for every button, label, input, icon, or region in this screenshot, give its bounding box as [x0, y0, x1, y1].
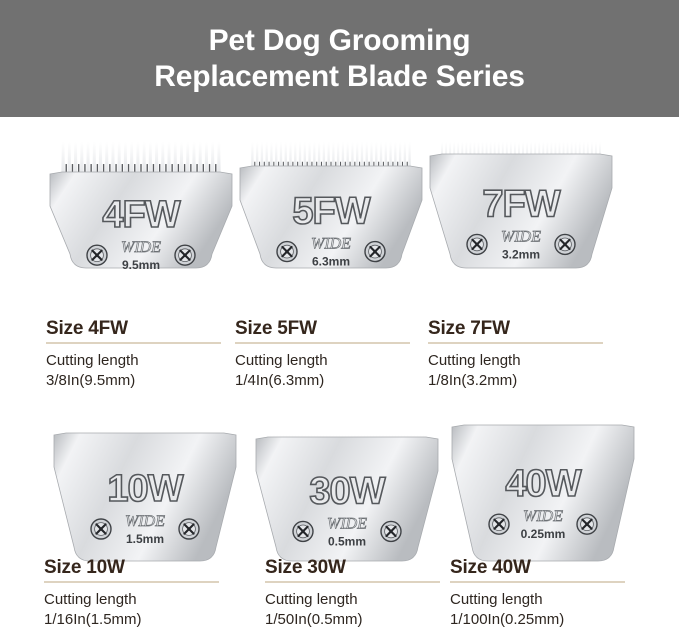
header-banner: Pet Dog Grooming Replacement Blade Serie… [0, 0, 679, 117]
blade-wide-engraving: WIDE [327, 515, 367, 532]
caption-label: Cutting length [265, 590, 453, 610]
caption-value: 1/4In(6.3mm) [235, 371, 423, 391]
caption-label: Cutting length [44, 590, 232, 610]
blade-image-10w: 10WWIDE1.5mm [52, 417, 238, 567]
blade-screw-left [467, 234, 487, 254]
blade-size-engraving: 5FW [292, 191, 370, 233]
caption-title: Size 4FW [46, 318, 234, 340]
blade-length-engraving: 0.25mm [521, 527, 566, 541]
caption-divider [265, 581, 440, 583]
blade-screw-left [293, 521, 313, 541]
caption-title: Size 5FW [235, 318, 423, 340]
caption-title: Size 10W [44, 557, 232, 579]
blade-wide-engraving: WIDE [121, 239, 161, 256]
blade-wide-engraving: WIDE [501, 228, 541, 245]
caption-value: 3/8In(9.5mm) [46, 371, 234, 391]
blade-screw-left [87, 245, 107, 265]
blade-image-40w: 40WWIDE0.25mm [450, 417, 636, 567]
caption-10w: Size 10W Cutting length 1/16In(1.5mm) [44, 557, 232, 630]
caption-4fw: Size 4FW Cutting length 3/8In(9.5mm) [46, 318, 234, 391]
blade-row-1-images: 4FWWIDE9.5mm 5FWWIDE6.3mm 7FWWIDE3.2mm [0, 124, 679, 274]
caption-title: Size 7FW [428, 318, 616, 340]
blade-length-engraving: 1.5mm [126, 532, 164, 546]
caption-5fw: Size 5FW Cutting length 1/4In(6.3mm) [235, 318, 423, 391]
caption-value: 1/50In(0.5mm) [265, 610, 453, 630]
caption-divider [46, 342, 221, 344]
blade-screw-right [175, 245, 195, 265]
blade-length-engraving: 9.5mm [122, 258, 160, 272]
caption-30w: Size 30W Cutting length 1/50In(0.5mm) [265, 557, 453, 630]
caption-divider [428, 342, 603, 344]
blade-wide-engraving: WIDE [125, 513, 165, 530]
blade-length-engraving: 6.3mm [312, 255, 350, 269]
caption-value: 1/16In(1.5mm) [44, 610, 232, 630]
blade-screw-left [277, 242, 297, 262]
blade-screw-right [179, 519, 199, 539]
blade-image-5fw: 5FWWIDE6.3mm [238, 124, 424, 274]
blade-image-7fw: 7FWWIDE3.2mm [428, 124, 614, 274]
page-title-line-1: Pet Dog Grooming [209, 23, 471, 59]
caption-7fw: Size 7FW Cutting length 1/8In(3.2mm) [428, 318, 616, 391]
caption-divider [235, 342, 410, 344]
blade-size-engraving: 7FW [482, 183, 560, 225]
caption-label: Cutting length [428, 351, 616, 371]
caption-title: Size 40W [450, 557, 638, 579]
blade-size-engraving: 40W [505, 463, 581, 505]
blade-wide-engraving: WIDE [311, 236, 351, 253]
blade-size-engraving: 30W [309, 470, 385, 512]
blade-length-engraving: 3.2mm [502, 247, 540, 261]
caption-value: 1/8In(3.2mm) [428, 371, 616, 391]
caption-value: 1/100In(0.25mm) [450, 610, 638, 630]
blade-screw-right [381, 521, 401, 541]
blade-screw-left [91, 519, 111, 539]
caption-40w: Size 40W Cutting length 1/100In(0.25mm) [450, 557, 638, 630]
blade-size-engraving: 4FW [102, 194, 180, 236]
blade-screw-left [489, 514, 509, 534]
blade-screw-right [555, 234, 575, 254]
blade-row-2-images: 10WWIDE1.5mm 30WWIDE0.5mm 40WWIDE0.25mm [0, 417, 679, 567]
blade-size-engraving: 10W [107, 468, 183, 510]
caption-label: Cutting length [46, 351, 234, 371]
blade-screw-right [365, 242, 385, 262]
blade-image-4fw: 4FWWIDE9.5mm [48, 124, 234, 274]
blade-wide-engraving: WIDE [523, 508, 563, 525]
product-infographic: Pet Dog Grooming Replacement Blade Serie… [0, 0, 679, 637]
caption-label: Cutting length [235, 351, 423, 371]
caption-label: Cutting length [450, 590, 638, 610]
blade-row-2: 10WWIDE1.5mm 30WWIDE0.5mm 40WWIDE0.25mm [0, 417, 679, 567]
caption-title: Size 30W [265, 557, 453, 579]
page-title-line-2: Replacement Blade Series [154, 59, 524, 95]
caption-divider [450, 581, 625, 583]
blade-image-30w: 30WWIDE0.5mm [254, 417, 440, 567]
blade-length-engraving: 0.5mm [328, 534, 366, 548]
blade-row-1: 4FWWIDE9.5mm 5FWWIDE6.3mm 7FWWIDE3.2mm [0, 124, 679, 274]
caption-divider [44, 581, 219, 583]
blade-screw-right [577, 514, 597, 534]
